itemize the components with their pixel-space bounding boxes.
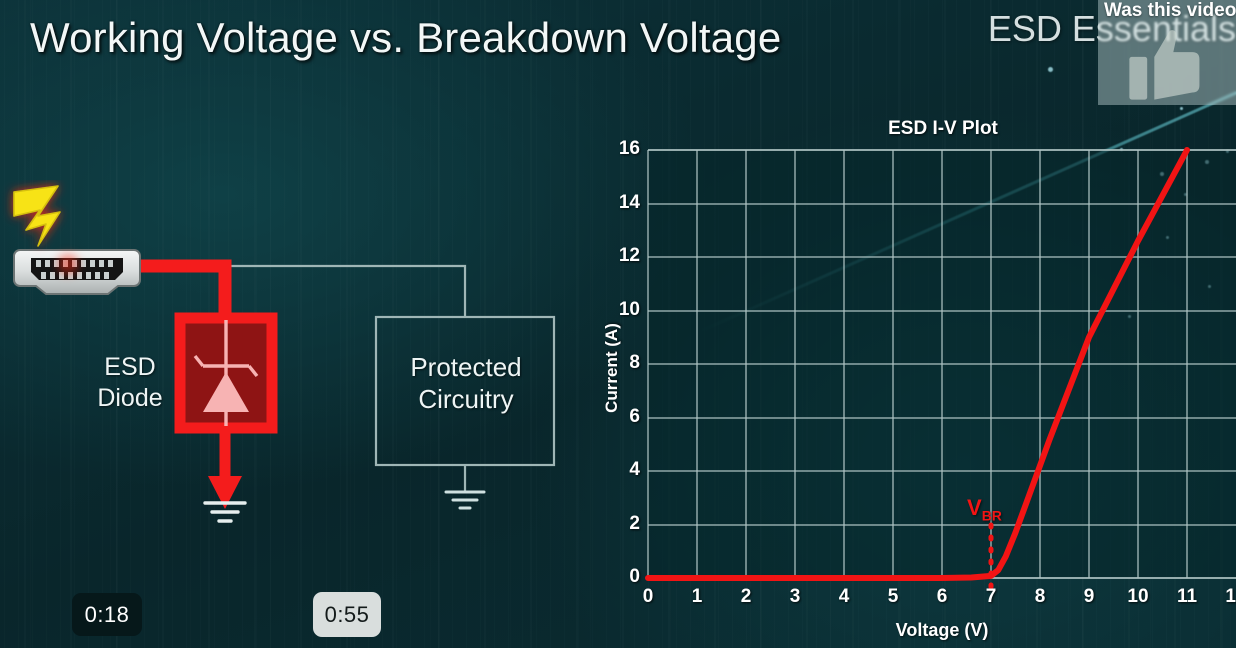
protected-circuitry-label-line2: Circuitry [378, 384, 554, 416]
protected-circuitry-label-line1: Protected [378, 352, 554, 384]
esd-iv-plot: ESD I-V Plot Current (A) Voltage (V) 024… [580, 108, 1236, 648]
x-axis-tick-label: 1 [682, 586, 712, 608]
thumbs-up-icon[interactable] [1126, 26, 1204, 102]
x-axis-tick-label: 9 [1074, 586, 1104, 608]
current-time-badge[interactable]: 0:18 [72, 593, 142, 636]
x-axis-tick-label: 0 [633, 586, 663, 608]
lightning-bolt-icon [14, 186, 60, 246]
esd-diode-label-line2: Diode [80, 383, 180, 414]
x-axis-tick-label: 12 [1221, 586, 1236, 608]
chart-title: ESD I-V Plot [580, 118, 1236, 140]
video-survey-overlay[interactable]: Was this video [1098, 0, 1236, 105]
plot-area [648, 150, 1236, 578]
y-axis-tick-label: 6 [606, 406, 640, 428]
survey-question-text: Was this video [1104, 0, 1236, 22]
breakdown-voltage-label: VBR [967, 495, 1002, 523]
esd-diode-block [180, 318, 272, 428]
protected-circuitry-label: Protected Circuitry [378, 352, 554, 415]
x-axis-tick-label: 6 [927, 586, 957, 608]
total-time-badge[interactable]: 0:55 [313, 592, 381, 637]
x-axis-tick-label: 5 [878, 586, 908, 608]
y-axis-tick-label: 4 [606, 459, 640, 481]
page-title: Working Voltage vs. Breakdown Voltage [30, 14, 781, 62]
x-axis-tick-label: 7 [976, 586, 1006, 608]
background-spark [1048, 67, 1053, 72]
y-axis-tick-label: 12 [606, 245, 640, 267]
hdmi-connector-icon [14, 250, 140, 294]
video-frame: Working Voltage vs. Breakdown Voltage ES… [0, 0, 1236, 648]
x-axis-tick-label: 8 [1025, 586, 1055, 608]
y-axis-tick-label: 14 [606, 192, 640, 214]
y-axis-tick-label: 8 [606, 352, 640, 374]
esd-diode-label-line1: ESD [80, 352, 180, 383]
x-axis-tick-label: 11 [1172, 586, 1202, 608]
chart-series-layer [648, 150, 1236, 578]
signal-wire [225, 266, 465, 317]
ground-symbol-icon [446, 492, 484, 508]
x-axis-tick-label: 10 [1123, 586, 1153, 608]
esd-diode-label: ESD Diode [80, 352, 180, 413]
y-axis-tick-label: 2 [606, 513, 640, 535]
x-axis-tick-label: 3 [780, 586, 810, 608]
y-axis-tick-label: 0 [606, 566, 640, 588]
x-axis-label: Voltage (V) [648, 620, 1236, 641]
iv-curve [648, 150, 1187, 578]
x-axis-tick-label: 4 [829, 586, 859, 608]
x-axis-tick-label: 2 [731, 586, 761, 608]
y-axis-tick-label: 16 [606, 138, 640, 160]
y-axis-tick-label: 10 [606, 299, 640, 321]
